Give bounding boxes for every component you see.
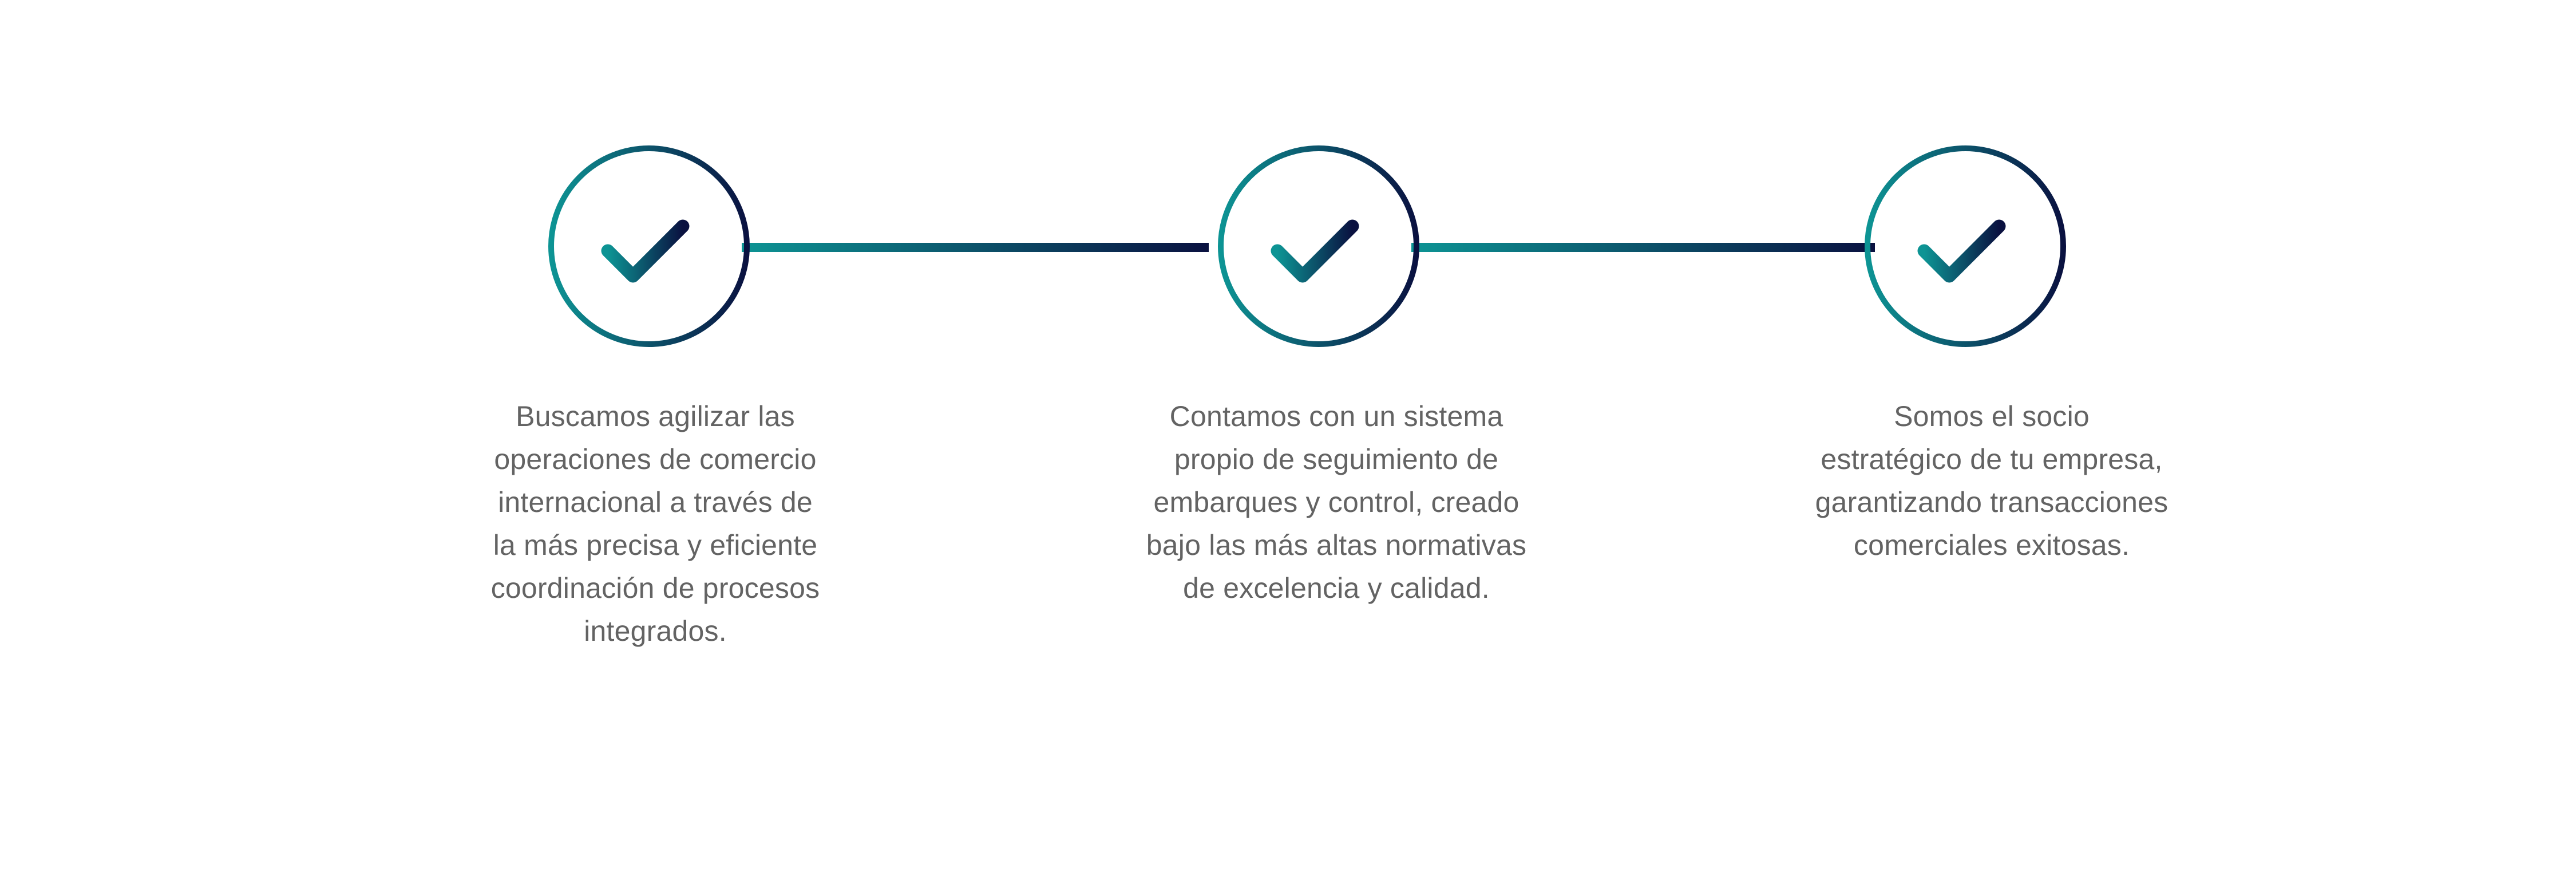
step-node-1[interactable] bbox=[548, 145, 750, 347]
connector-line-2 bbox=[1411, 243, 1875, 252]
check-icon bbox=[1924, 226, 1999, 276]
step-caption-1: Buscamos agilizar las operaciones de com… bbox=[446, 395, 864, 653]
connector-line-1 bbox=[742, 243, 1209, 252]
infographic-stage: Buscamos agilizar las operaciones de com… bbox=[0, 0, 2576, 879]
check-icon bbox=[1277, 226, 1352, 276]
step-caption-2: Contamos con un sistema propio de seguim… bbox=[1105, 395, 1568, 610]
step-circle-outline bbox=[1867, 148, 2063, 344]
step-node-3[interactable] bbox=[1865, 145, 2066, 347]
step-circle-outline bbox=[1221, 148, 1416, 344]
step-caption-3: Somos el socio estratégico de tu empresa… bbox=[1740, 395, 2243, 567]
check-icon bbox=[608, 226, 683, 276]
step-circle-outline bbox=[551, 148, 747, 344]
step-node-2[interactable] bbox=[1218, 145, 1419, 347]
